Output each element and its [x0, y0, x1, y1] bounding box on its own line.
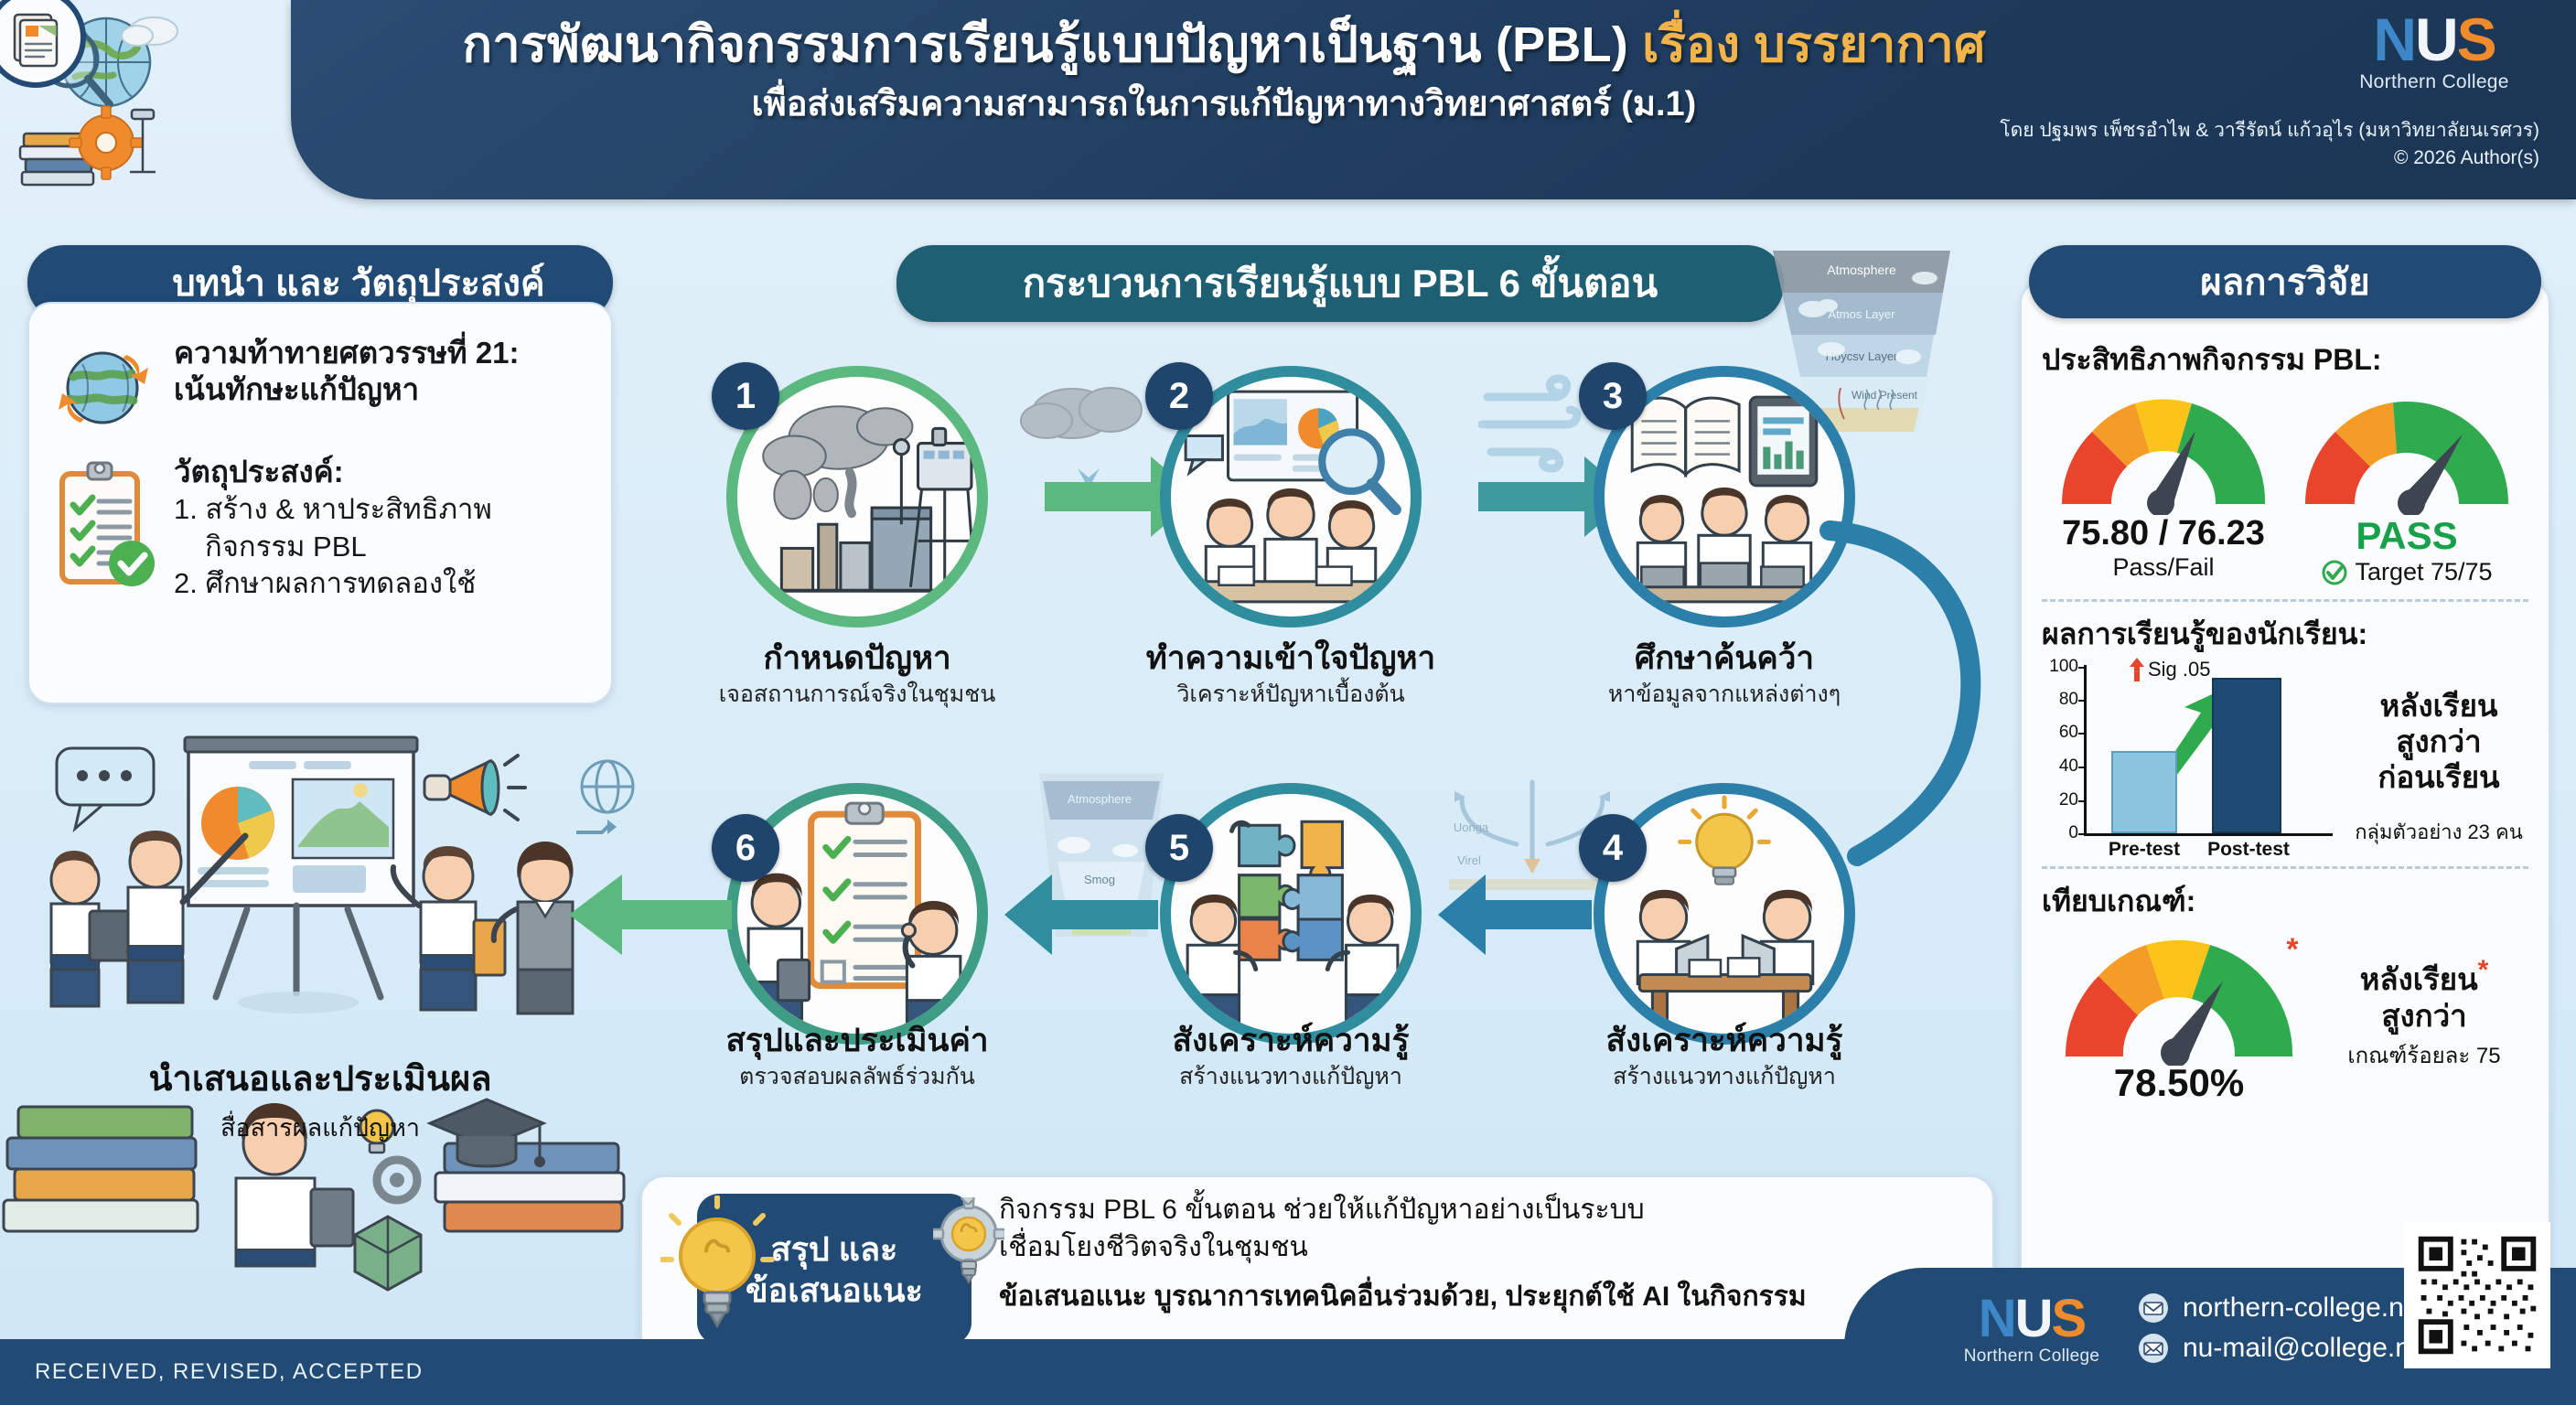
step-2-title: ทำความเข้าใจปัญหา	[1108, 640, 1474, 677]
logo-letter-s: S	[2457, 5, 2495, 73]
gauge-criterion: * 78.50%	[2042, 928, 2316, 1105]
bar-pre-test	[2111, 751, 2177, 833]
gauge-efficiency-icon	[2049, 387, 2278, 515]
objectives-row: วัตถุประสงค์: 1. สร้าง & หาประสิทธิภาพ ก…	[51, 454, 587, 602]
gear-lightbulb-icon	[933, 1197, 1004, 1285]
step-1-label: กำหนดปัญหา เจอสถานการณ์จริงในชุมชน	[674, 640, 1040, 708]
qr-code-icon	[2410, 1228, 2544, 1362]
step-6-title: สรุปและประเมินค่า	[674, 1023, 1040, 1059]
challenge-heading: ความท้าทายศตวรรษที่ 21:	[174, 335, 587, 371]
cube-icon	[355, 1217, 421, 1290]
email-line[interactable]: nu-mail@college.nu	[2137, 1332, 2426, 1365]
step-5-sub: สร้างแนวทางแก้ปัญหา	[1108, 1063, 1474, 1090]
step-4-title: สังเคราะห์ความรู้	[1541, 1023, 1907, 1059]
check-circle-icon	[2321, 559, 2348, 586]
step-1-title: กำหนดปัญหา	[674, 640, 1040, 677]
step-5-title: สังเคราะห์ความรู้	[1108, 1023, 1474, 1059]
step-4-number: 4	[1579, 814, 1647, 882]
criterion-threshold-note: เกณฑ์ร้อยละ 75	[2320, 1037, 2528, 1073]
y-tick-0: 0	[2042, 823, 2078, 843]
illustration-caption-title: นำเสนอและประเมินผล	[37, 1050, 604, 1106]
logo-letter-u: U	[2415, 5, 2457, 73]
summary-body: กิจกรรม PBL 6 ขั้นตอน ช่วยให้แก้ปัญหาอย่…	[999, 1192, 1969, 1316]
footer-logo-letter-u: U	[2015, 1289, 2052, 1348]
summary-line-3: ข้อเสนอแนะ บูรณาการเทคนิคอื่นร่วมด้วย, ป…	[999, 1279, 1969, 1316]
svg-text:*: *	[2286, 932, 2299, 967]
learning-conclusion-l2: สูงกว่า	[2349, 724, 2528, 760]
results-panel-title: ผลการวิจัย	[2029, 245, 2541, 318]
nus-logo-header: NUS Northern College	[2329, 11, 2539, 93]
student-figure	[1265, 488, 1316, 591]
results-divider-2	[2042, 866, 2528, 869]
qr-code[interactable]	[2404, 1222, 2550, 1368]
page-subtitle: เพื่อส่งเสริมความสามารถในการแก้ปัญหาทางว…	[300, 84, 2148, 126]
pre-post-bar-chart: Sig .05 100 80 60 40 20 0 Pre-test Post-…	[2042, 661, 2344, 853]
criterion-conclusion: หลังเรียน* สูงกว่า เกณฑ์ร้อยละ 75	[2320, 928, 2528, 1073]
step-5-number: 5	[1145, 814, 1213, 882]
globe-icon	[51, 335, 159, 437]
challenge-text: เน้นทักษะแก้ปัญหา	[174, 371, 587, 408]
website-text: northern-college.nu	[2183, 1292, 2420, 1324]
gauge-pass-status: PASS Target 75/75	[2291, 387, 2524, 586]
footer-logo-tagline: Northern College	[1945, 1346, 2119, 1367]
step-2-label: ทำความเข้าใจปัญหา วิเคราะห์ปัญหาเบื้องต้…	[1108, 640, 1474, 708]
step-6-number: 6	[712, 814, 779, 882]
significance-star: *	[2478, 955, 2489, 985]
email-text: nu-mail@college.nu	[2183, 1333, 2426, 1364]
envelope-icon	[2137, 1292, 2170, 1325]
logo-letter-n: N	[2373, 5, 2415, 73]
arrow-step4-to-step5	[1436, 869, 1592, 960]
learning-heading: ผลการเรียนรู้ของนักเรียน:	[2042, 611, 2528, 658]
footer-status-text: RECEIVED, REVISED, ACCEPTED	[0, 1359, 424, 1385]
gauge-efficiency: 75.80 / 76.23 Pass/Fail	[2047, 387, 2281, 582]
step-2-sub: วิเคราะห์ปัญหาเบื้องต้น	[1108, 681, 1474, 708]
step-1-number: 1	[712, 362, 779, 430]
step-5-label: สังเคราะห์ความรู้ สร้างแนวทางแก้ปัญหา	[1108, 1023, 1474, 1090]
efficiency-value: 75.80 / 76.23	[2047, 514, 2281, 553]
intro-panel-card: ความท้าทายศตวรรษที่ 21: เน้นทักษะแก้ปัญห…	[27, 302, 613, 704]
arrow-step6-to-presentation	[567, 869, 732, 960]
learning-chart-block: Sig .05 100 80 60 40 20 0 Pre-test Post-…	[2042, 661, 2528, 853]
author-block: โดย ปฐมพร เพ็ชรอำไพ & วารีรัตน์ แก้วอุไร…	[1917, 117, 2539, 173]
criterion-conclusion-l1: หลังเรียน*	[2320, 954, 2528, 998]
sample-size-note: กลุ่มตัวอย่าง 23 คน	[2349, 816, 2528, 848]
gear-icon	[377, 1160, 417, 1200]
step-3-number: 3	[1579, 362, 1647, 430]
authors-line: โดย ปฐมพร เพ็ชรอำไพ & วารีรัตน์ แก้วอุไร…	[1917, 117, 2539, 145]
presentation-scene-illustration	[18, 723, 640, 1052]
sig-annotation: Sig .05	[2130, 658, 2211, 681]
gauge-pass-icon	[2292, 387, 2521, 515]
results-card: ประสิทธิภาพกิจกรรม PBL: 75.80 / 76.23 Pa…	[2020, 280, 2550, 1295]
svg-text:Uonga: Uonga	[1454, 820, 1489, 834]
poster-header: การพัฒนากิจกรรมการเรียนรู้แบบปัญหาเป็นฐา…	[291, 0, 2576, 199]
x-label-post-test: Post-test	[2197, 839, 2300, 861]
checklist-clipboard-icon	[51, 454, 159, 595]
objective-heading: วัตถุประสงค์:	[174, 454, 587, 490]
title-main-text: การพัฒนากิจกรรมการเรียนรู้แบบปัญหาเป็นฐา…	[462, 17, 1628, 72]
svg-text:Virel: Virel	[1457, 853, 1481, 867]
y-tick-60: 60	[2042, 723, 2078, 743]
sig-label: Sig .05	[2148, 658, 2211, 681]
gauge-criterion-icon: *	[2051, 928, 2307, 1066]
step-4-label: สังเคราะห์ความรู้ สร้างแนวทางแก้ปัญหา	[1541, 1023, 1907, 1090]
step-2-number: 2	[1145, 362, 1213, 430]
website-line[interactable]: northern-college.nu	[2137, 1292, 2426, 1325]
pass-status-label: Target 75/75	[2291, 558, 2524, 586]
objective-item-1b: กิจกรรม PBL	[174, 530, 587, 564]
criterion-conclusion-l2: สูงกว่า	[2320, 998, 2528, 1035]
objective-item-1: 1. สร้าง & หาประสิทธิภาพ	[174, 492, 587, 527]
step-4-sub: สร้างแนวทางแก้ปัญหา	[1541, 1063, 1907, 1090]
svg-text:Atmosphere: Atmosphere	[1068, 792, 1132, 806]
summary-line-1: กิจกรรม PBL 6 ขั้นตอน ช่วยให้แก้ปัญหาอย่…	[999, 1192, 1969, 1229]
criterion-heading: เทียบเกณฑ์:	[2042, 878, 2528, 925]
x-label-pre-test: Pre-test	[2093, 839, 2195, 861]
efficiency-gauges: 75.80 / 76.23 Pass/Fail PASS T	[2042, 387, 2528, 586]
logo-tagline: Northern College	[2329, 71, 2539, 93]
criterion-value: 78.50%	[2042, 1061, 2316, 1105]
summary-line-2: เชื่อมโยงชีวิตจริงในชุมชน	[999, 1229, 1969, 1267]
student-figure	[748, 874, 810, 1019]
page-title: การพัฒนากิจกรรมการเรียนรู้แบบปัญหาเป็นฐา…	[300, 16, 2148, 73]
illustration-caption: นำเสนอและประเมินผล สื่อสารผลแก้ปัญหา	[37, 1050, 604, 1147]
footer-logo-letter-n: N	[1979, 1289, 2015, 1348]
process-panel-title: กระบวนการเรียนรู้แบบ PBL 6 ขั้นตอน	[896, 245, 1784, 322]
learning-conclusion-l3: ก่อนเรียน	[2349, 760, 2528, 796]
y-tick-20: 20	[2042, 790, 2078, 810]
y-tick-100: 100	[2042, 657, 2078, 677]
pass-status-label-text: Target 75/75	[2355, 558, 2492, 586]
arrow-step5-to-step6	[1003, 869, 1158, 960]
summary-card: สรุป และ ข้อเสนอแนะ	[640, 1175, 1994, 1358]
lightbulb-icon	[1680, 798, 1769, 885]
y-tick-80: 80	[2042, 690, 2078, 710]
learning-conclusion-l1: หลังเรียน	[2349, 689, 2528, 724]
svg-text:Atmos Layer: Atmos Layer	[1829, 307, 1896, 321]
criterion-block: * 78.50% หลังเรียน* สูงกว่า เกณฑ์ร้อยละ …	[2042, 928, 2528, 1105]
title-highlight-text: เรื่อง บรรยากาศ	[1642, 17, 1985, 72]
footer-status-bar: RECEIVED, REVISED, ACCEPTED	[0, 1339, 2031, 1405]
student-figure	[128, 831, 245, 1003]
lightbulb-icon	[660, 1196, 779, 1344]
nus-logo-footer: NUS Northern College	[1945, 1293, 2119, 1367]
learning-conclusion: หลังเรียน สูงกว่า ก่อนเรียน กลุ่มตัวอย่า…	[2349, 661, 2528, 848]
criterion-conclusion-l1-text: หลังเรียน	[2360, 962, 2478, 996]
process-panel-title-label: กระบวนการเรียนรู้แบบ PBL 6 ขั้นตอน	[1023, 253, 1658, 314]
pass-status-value: PASS	[2291, 514, 2524, 558]
svg-text:Atmosphere: Atmosphere	[1827, 263, 1896, 277]
step-1-sub: เจอสถานการณ์จริงในชุมชน	[674, 681, 1040, 708]
copyright-line: © 2026 Author(s)	[1917, 145, 2539, 172]
illustration-caption-sub: สื่อสารผลแก้ปัญหา	[37, 1108, 604, 1147]
up-arrow-icon	[2130, 658, 2144, 681]
efficiency-heading: ประสิทธิภาพกิจกรรม PBL:	[2042, 337, 2528, 383]
footer-contact-bar: NUS Northern College northern-college.nu	[1844, 1268, 2576, 1405]
footer-logo-letter-s: S	[2052, 1289, 2086, 1348]
poster-root: การพัฒนากิจกรรมการเรียนรู้แบบปัญหาเป็นฐา…	[0, 0, 2576, 1405]
mail-icon	[2137, 1332, 2170, 1365]
results-divider-1	[2042, 599, 2528, 602]
objective-item-2: 2. ศึกษาผลการทดลองใช้	[174, 566, 587, 601]
student-figure	[902, 901, 960, 1026]
student-figure	[51, 851, 130, 1006]
step-6-label: สรุปและประเมินค่า ตรวจสอบผลลัพธ์ร่วมกัน	[674, 1023, 1040, 1090]
contact-list: northern-college.nu nu-mail@college.nu	[2137, 1292, 2426, 1372]
results-panel-title-label: ผลการวิจัย	[2200, 252, 2369, 311]
efficiency-label: Pass/Fail	[2047, 553, 2281, 582]
step-6-sub: ตรวจสอบผลลัพธ์ร่วมกัน	[674, 1063, 1040, 1090]
challenge-row: ความท้าทายศตวรรษที่ 21: เน้นทักษะแก้ปัญห…	[51, 335, 587, 437]
svg-text:Wind Present: Wind Present	[1851, 389, 1918, 402]
bar-post-test	[2212, 678, 2281, 833]
y-tick-40: 40	[2042, 756, 2078, 777]
